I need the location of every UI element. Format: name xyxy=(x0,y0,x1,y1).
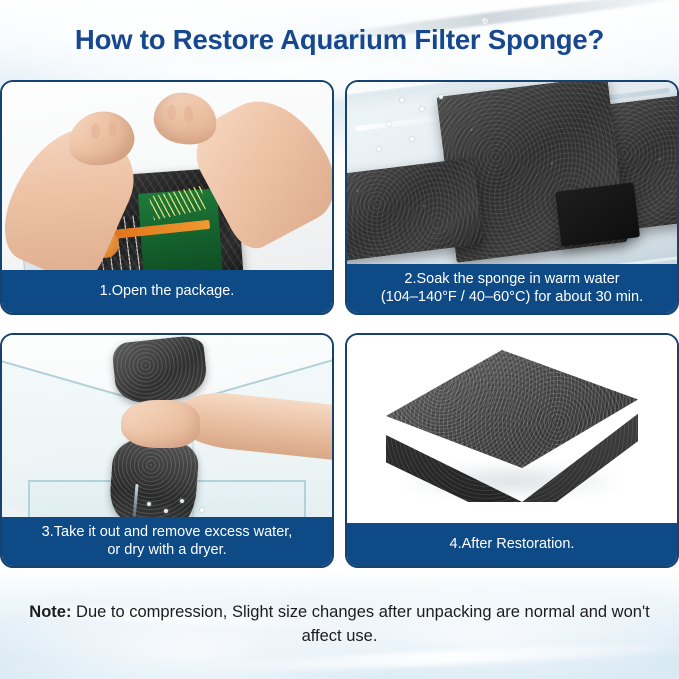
step-3-caption: 3.Take it out and remove excess water, o… xyxy=(2,517,332,566)
step-1-caption: 1.Open the package. xyxy=(2,270,332,313)
step-card-3: 3.Take it out and remove excess water, o… xyxy=(0,333,334,568)
hands-opening-package-illustration xyxy=(2,82,332,270)
infographic-page: How to Restore Aquarium Filter Sponge? xyxy=(0,0,679,679)
step-2-caption: 2.Soak the sponge in warm water (104–140… xyxy=(347,264,677,313)
step-card-2: 2.Soak the sponge in warm water (104–140… xyxy=(345,80,679,315)
hand-squeezing-sponge-illustration xyxy=(2,335,332,517)
sponges-soaking-in-water-illustration xyxy=(347,82,677,264)
step-3-caption-line-1: 3.Take it out and remove excess water, xyxy=(8,523,326,541)
step-1-photo xyxy=(2,82,332,270)
step-card-4: 4.After Restoration. xyxy=(345,333,679,568)
step-3-caption-line-2: or dry with a dryer. xyxy=(8,541,326,559)
steps-grid: 1.Open the package. xyxy=(0,80,679,568)
note-label: Note: xyxy=(29,603,71,621)
page-title: How to Restore Aquarium Filter Sponge? xyxy=(0,24,679,56)
restored-flat-sponge-illustration xyxy=(347,335,677,523)
note-body: Due to compression, Slight size changes … xyxy=(71,603,649,645)
step-2-photo xyxy=(347,82,677,264)
step-card-1: 1.Open the package. xyxy=(0,80,334,315)
step-2-caption-line-1: 2.Soak the sponge in warm water xyxy=(353,270,671,288)
step-4-caption: 4.After Restoration. xyxy=(347,523,677,566)
step-4-photo xyxy=(347,335,677,523)
step-3-photo xyxy=(2,335,332,517)
note-text: Note: Due to compression, Slight size ch… xyxy=(0,601,679,649)
step-1-caption-line-1: 1.Open the package. xyxy=(8,282,326,300)
step-4-caption-line-1: 4.After Restoration. xyxy=(353,535,671,553)
step-2-caption-line-2: (104–140°F / 40–60°C) for about 30 min. xyxy=(353,288,671,306)
